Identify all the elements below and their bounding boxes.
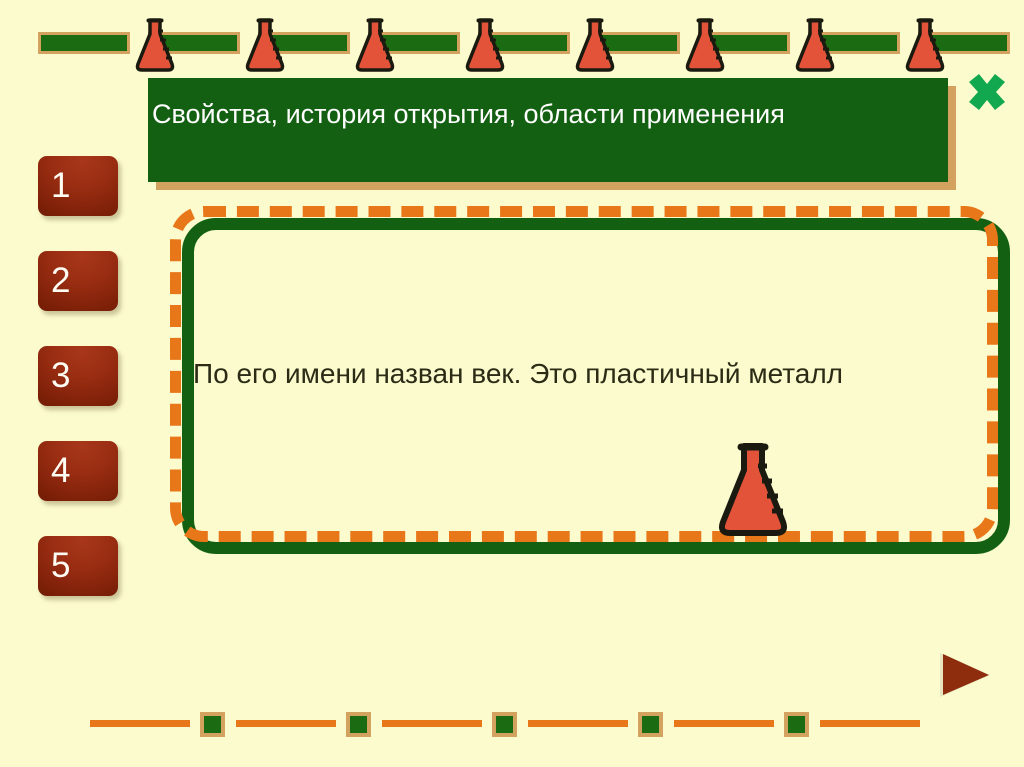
top-decorative-strip [0, 0, 1024, 82]
bottom-strip-line [236, 720, 336, 727]
flask-icon [133, 16, 177, 74]
top-strip-bar [38, 32, 130, 54]
flask-icon [353, 16, 397, 74]
bottom-strip-square [784, 712, 809, 737]
nav-button-label: 5 [51, 544, 70, 588]
flask-icon [573, 16, 617, 74]
flask-icon [793, 16, 837, 74]
nav-button-label: 2 [51, 259, 70, 303]
bottom-strip-line [382, 720, 482, 727]
nav-button-3[interactable]: 3 [38, 346, 118, 406]
nav-button-5[interactable]: 5 [38, 536, 118, 596]
bottom-strip-square [200, 712, 225, 737]
nav-button-label: 4 [51, 449, 70, 493]
close-icon[interactable] [963, 68, 1011, 116]
flask-icon [463, 16, 507, 74]
flask-icon [714, 440, 792, 540]
bottom-strip-line [820, 720, 920, 727]
flask-icon [903, 16, 947, 74]
bottom-strip-line [674, 720, 774, 727]
page-title: Свойства, история открытия, области прим… [152, 95, 852, 133]
nav-button-2[interactable]: 2 [38, 251, 118, 311]
bottom-strip-square [492, 712, 517, 737]
bottom-strip-square [638, 712, 663, 737]
bottom-strip-line [528, 720, 628, 727]
slide-canvas: Свойства, история открытия, области прим… [0, 0, 1024, 767]
flask-icon [683, 16, 727, 74]
next-slide-arrow[interactable] [934, 650, 994, 700]
bottom-strip-square [346, 712, 371, 737]
nav-button-label: 3 [51, 354, 70, 398]
content-text: По его имени назван век. Это пластичный … [193, 356, 993, 392]
nav-button-label: 1 [51, 164, 70, 208]
nav-button-1[interactable]: 1 [38, 156, 118, 216]
bottom-strip-line [90, 720, 190, 727]
flask-icon [243, 16, 287, 74]
nav-button-4[interactable]: 4 [38, 441, 118, 501]
